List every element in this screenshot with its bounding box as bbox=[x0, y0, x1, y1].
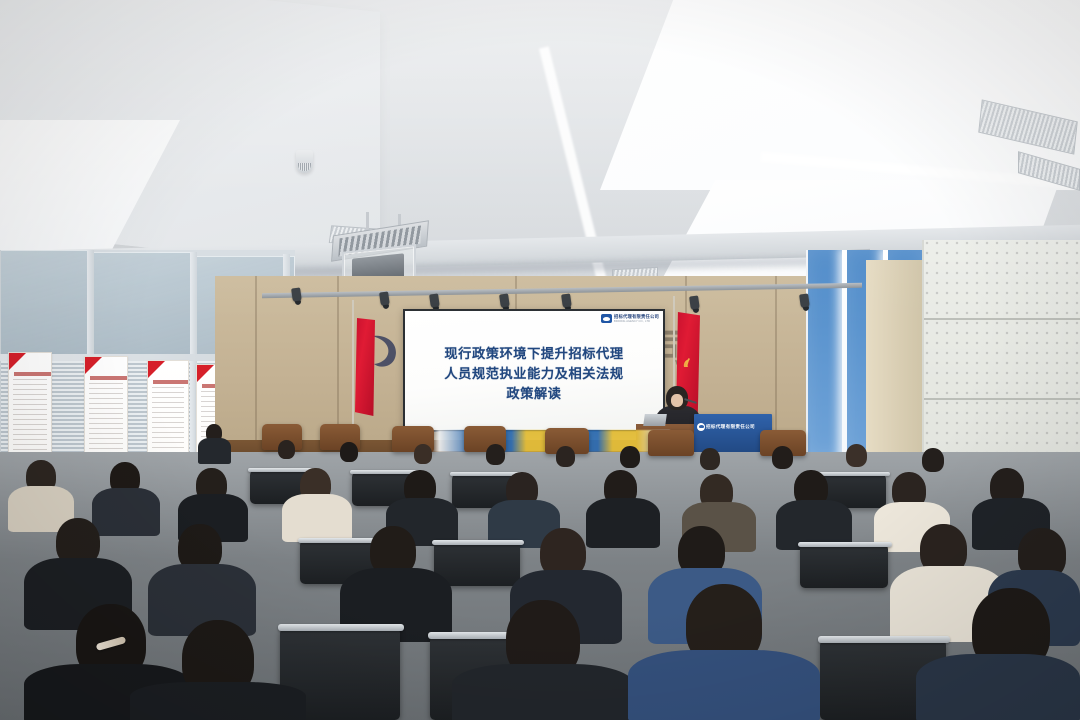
hammer-sickle-icon bbox=[682, 356, 694, 370]
slide-title-line-3: 政策解读 bbox=[415, 385, 653, 405]
audience-head bbox=[700, 448, 720, 470]
chair-armrest bbox=[818, 472, 890, 476]
track-light-icon bbox=[561, 293, 572, 308]
audience-head bbox=[278, 440, 295, 459]
chair-back-wooden[interactable] bbox=[648, 430, 694, 456]
audience-body bbox=[92, 488, 160, 536]
projection-screen-surface: 招标代理有限责任公司 BIDDING AGENCY CO., LTD 现行政策环… bbox=[405, 311, 663, 430]
audience-body bbox=[130, 682, 306, 720]
podium-label: 招标代理有限责任公司 bbox=[706, 424, 769, 430]
acoustic-wall-panel bbox=[922, 240, 1080, 475]
track-light-icon bbox=[689, 295, 700, 310]
chair-armrest bbox=[432, 540, 524, 545]
audience-body bbox=[916, 654, 1080, 720]
slide-title-line-2: 人员规范执业能力及相关法规 bbox=[415, 365, 653, 385]
audience-head bbox=[620, 446, 640, 468]
poster-title-bar bbox=[153, 380, 189, 384]
audience-head bbox=[340, 442, 358, 462]
wall-seam bbox=[255, 276, 257, 466]
slide-title: 现行政策环境下提升招标代理 人员规范执业能力及相关法规 政策解读 bbox=[415, 345, 653, 404]
audience-chair[interactable] bbox=[434, 542, 520, 586]
podium-logo-icon bbox=[697, 423, 705, 431]
chair-armrest bbox=[278, 624, 404, 631]
chair-armrest bbox=[798, 542, 892, 547]
track-light-icon bbox=[799, 293, 810, 308]
audience-head bbox=[922, 448, 944, 472]
audience-body bbox=[452, 664, 634, 720]
flag-pole bbox=[352, 300, 354, 430]
red-flag bbox=[355, 318, 375, 416]
audience-body bbox=[586, 498, 660, 548]
chair-armrest bbox=[818, 636, 950, 643]
conference-room-photo: 公司 G LTD bbox=[0, 0, 1080, 720]
track-light-icon bbox=[499, 293, 510, 308]
audience-head bbox=[846, 444, 867, 467]
audience-body bbox=[628, 650, 820, 720]
audience-head bbox=[414, 444, 432, 464]
audience-body bbox=[282, 494, 352, 542]
track-light-icon bbox=[429, 293, 440, 308]
smoke-detector-icon bbox=[296, 150, 313, 173]
track-light-icon bbox=[379, 291, 390, 306]
slide-logo-subtext: BIDDING AGENCY CO., LTD bbox=[614, 320, 659, 323]
slide-logo: 招标代理有限责任公司 BIDDING AGENCY CO., LTD bbox=[601, 314, 659, 323]
panel-seam bbox=[924, 318, 1080, 320]
speaker-face bbox=[671, 394, 683, 407]
window-blind[interactable] bbox=[808, 250, 842, 455]
laptop-icon bbox=[643, 414, 667, 426]
panel-seam bbox=[924, 398, 1080, 400]
audience-chair[interactable] bbox=[800, 544, 888, 588]
projection-screen: 招标代理有限责任公司 BIDDING AGENCY CO., LTD 现行政策环… bbox=[403, 309, 665, 432]
right-wall-column bbox=[866, 260, 924, 475]
glass-pane bbox=[93, 252, 193, 360]
slide-title-line-1: 现行政策环境下提升招标代理 bbox=[415, 345, 653, 365]
track-light-icon bbox=[291, 287, 302, 302]
glass-pane bbox=[0, 250, 91, 360]
window-mullion bbox=[0, 250, 1, 480]
poster-title-bar bbox=[90, 376, 128, 380]
slide-logo-badge-icon bbox=[601, 314, 612, 323]
audience-head bbox=[486, 444, 505, 465]
audience-head bbox=[772, 446, 793, 469]
poster-title-bar bbox=[14, 372, 52, 376]
audience-body bbox=[198, 438, 231, 464]
audience-head bbox=[556, 446, 575, 467]
